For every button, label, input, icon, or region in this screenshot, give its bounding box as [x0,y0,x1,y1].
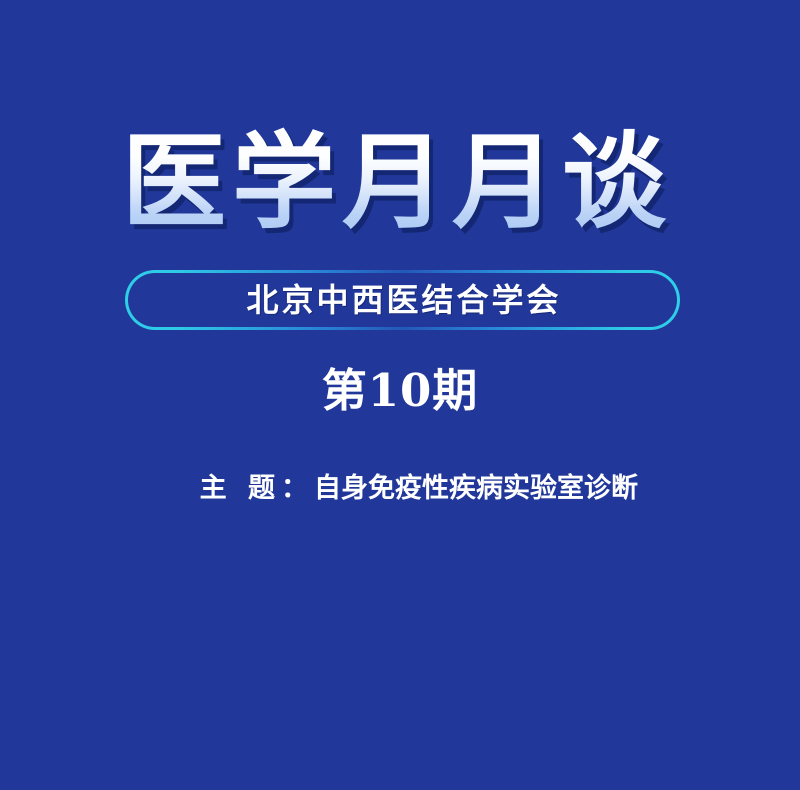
main-title-container: 医学月月谈 [0,124,800,240]
organization-name: 北京中西医结合学会 [243,284,561,316]
poster-canvas: 医学月月谈 北京中西医结合学会 第10期 主 题：自身免疫性疾病实验室诊断 [0,0,800,790]
organization-pill-inner: 北京中西医结合学会 [128,273,677,327]
issue-number: 第10期 [0,368,800,413]
organization-pill: 北京中西医结合学会 [125,270,680,330]
lower-blank-area [0,500,800,790]
page-title: 医学月月谈 [122,124,678,240]
